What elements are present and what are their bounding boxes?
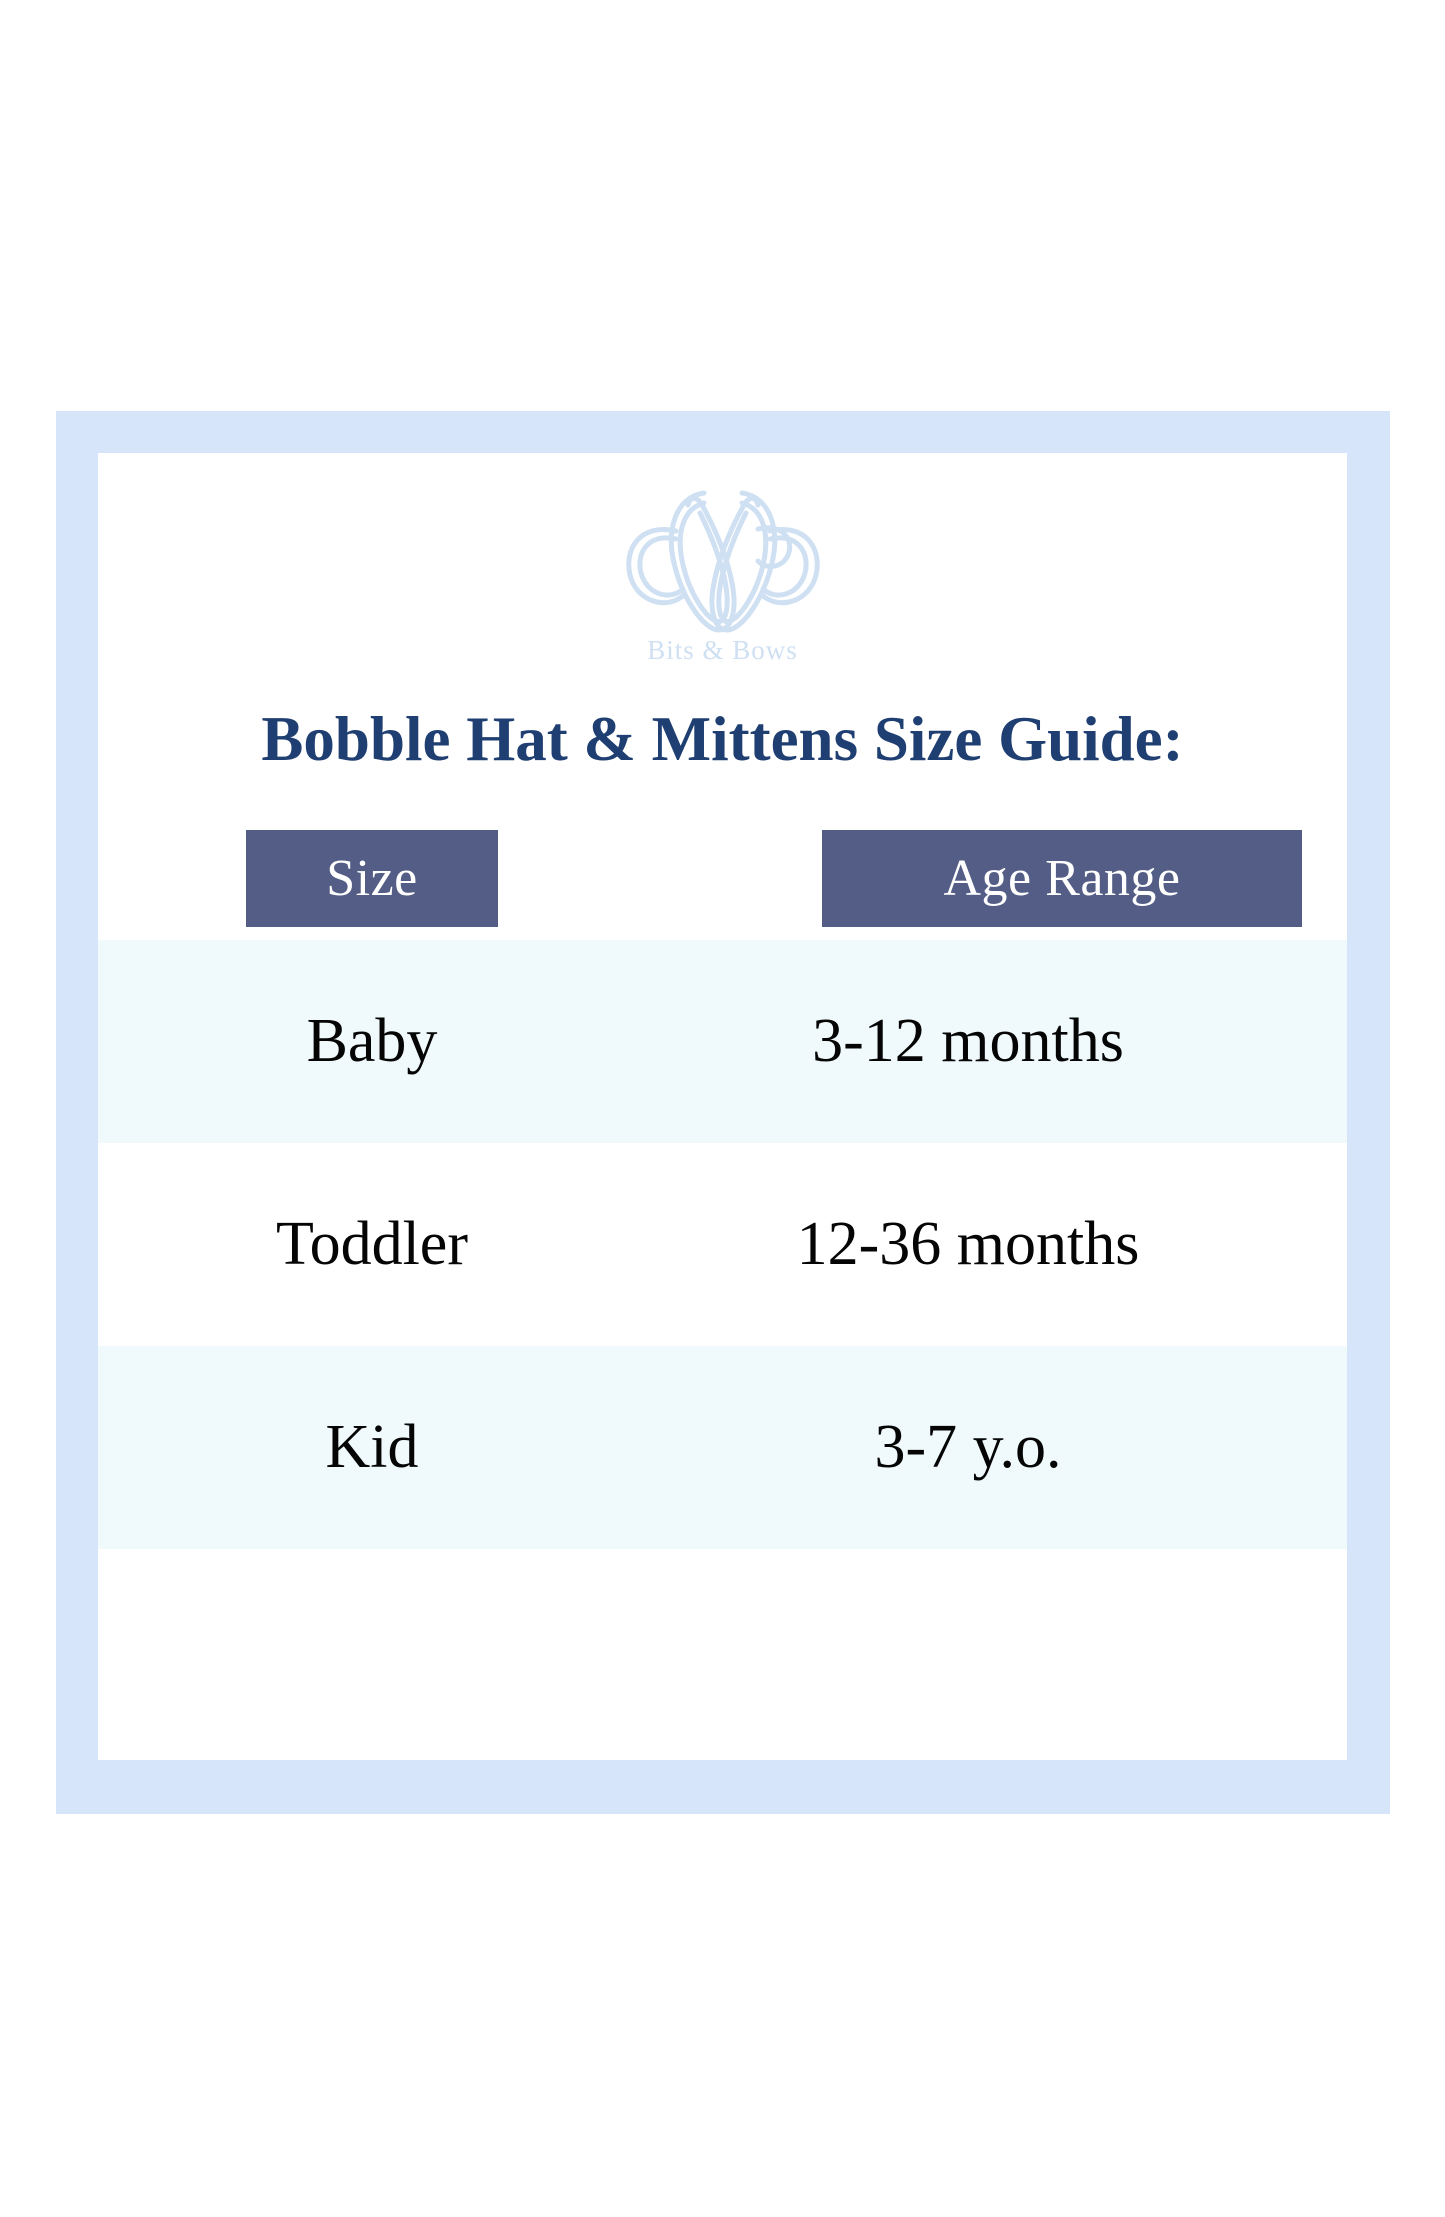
brand-block: Bits & Bows [98,453,1347,666]
cell-age-range: 3-7 y.o. [658,1346,1278,1549]
size-guide-outer-frame: Bits & Bows Bobble Hat & Mittens Size Gu… [56,411,1390,1814]
table-empty-row [98,1549,1347,1661]
cell-size: Baby [198,940,546,1143]
cell-age-range: 12-36 months [658,1143,1278,1346]
cell-size: Toddler [198,1143,546,1346]
table-row: Baby 3-12 months [98,940,1347,1143]
size-guide-table: Size Age Range Baby 3-12 months Toddler … [98,793,1347,1661]
table-header-row: Size Age Range [98,793,1347,940]
cell-age-range: 3-12 months [658,940,1278,1143]
column-header-age-range: Age Range [822,830,1302,927]
brand-name: Bits & Bows [98,635,1347,666]
table-row: Toddler 12-36 months [98,1143,1347,1346]
column-header-size: Size [246,830,498,927]
size-guide-card: Bits & Bows Bobble Hat & Mittens Size Gu… [98,453,1347,1760]
cell-size: Kid [198,1346,546,1549]
page-title: Bobble Hat & Mittens Size Guide: [98,706,1347,772]
bits-and-bows-monogram-icon [618,471,828,641]
table-row: Kid 3-7 y.o. [98,1346,1347,1549]
